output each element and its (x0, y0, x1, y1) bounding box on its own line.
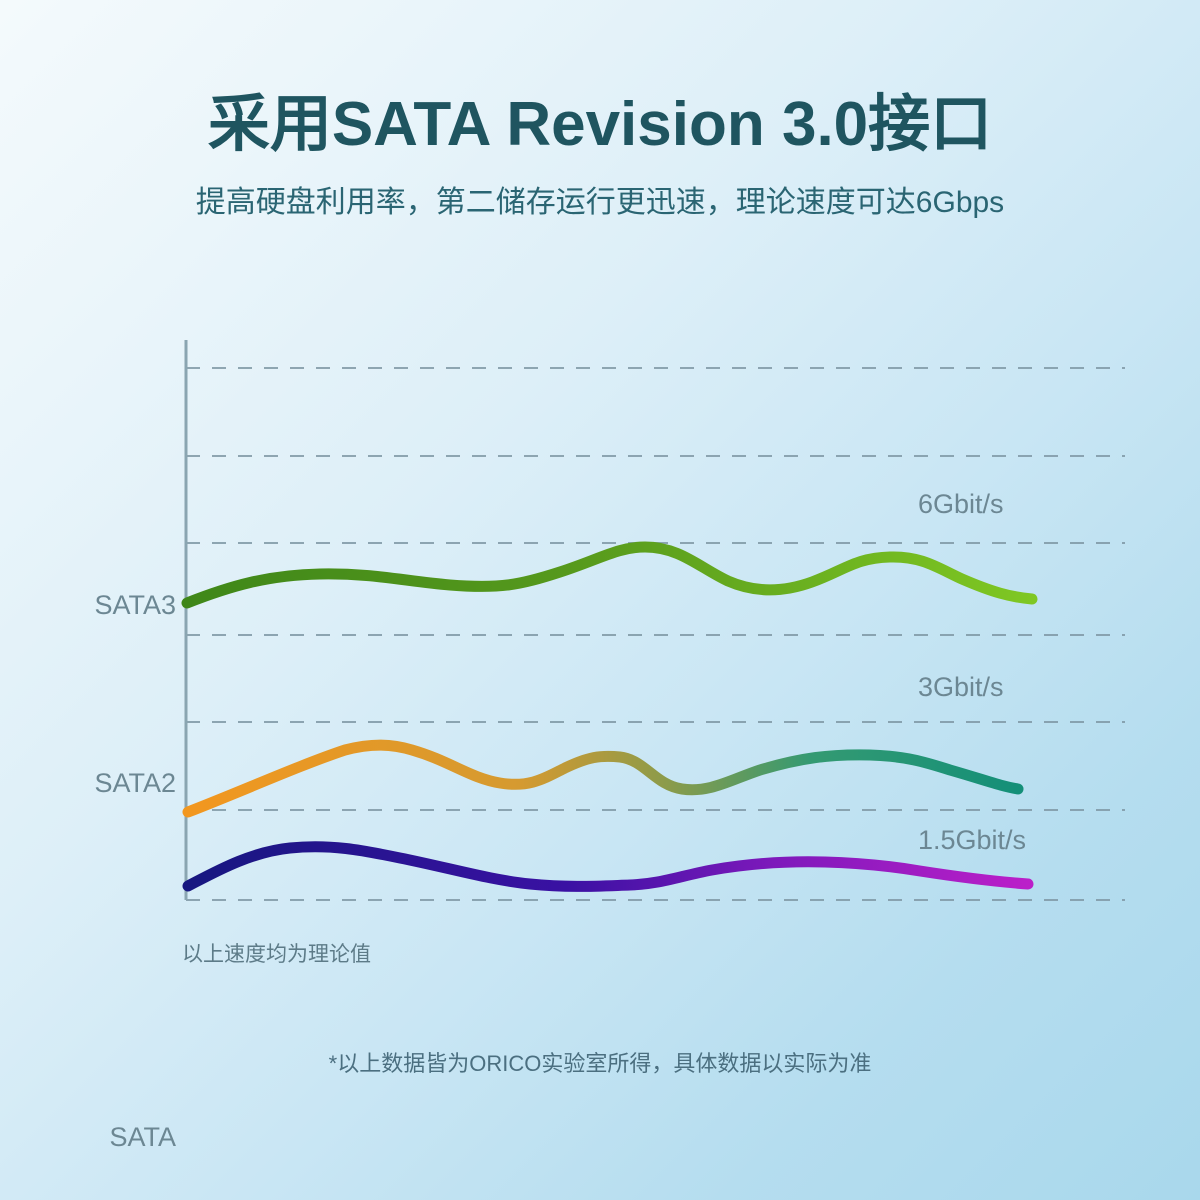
product-infographic-page: 采用SATA Revision 3.0接口 提高硬盘利用率，第二储存运行更迅速，… (0, 0, 1200, 1200)
speed-label-1-5gbit: 1.5Gbit/s (918, 825, 1026, 856)
footnote-disclaimer: *以上数据皆为ORICO实验室所得，具体数据以实际为准 (0, 1046, 1200, 1078)
chart-gridlines (186, 368, 1125, 900)
series-line-sata3 (187, 547, 1032, 603)
series-label-sata2: SATA2 (56, 768, 176, 799)
chart-canvas (0, 300, 1200, 980)
page-title: 采用SATA Revision 3.0接口 (0, 0, 1200, 159)
speed-label-3gbit: 3Gbit/s (918, 672, 1004, 703)
speed-label-6gbit: 6Gbit/s (918, 489, 1004, 520)
series-label-sata3: SATA3 (56, 590, 176, 621)
page-subtitle: 提高硬盘利用率，第二储存运行更迅速，理论速度可达6Gbps (0, 159, 1200, 221)
series-line-sata (188, 847, 1028, 887)
chart-note: 以上速度均为理论值 (182, 938, 371, 968)
series-label-sata: SATA (56, 1122, 176, 1153)
series-line-sata2 (188, 745, 1018, 812)
speed-comparison-chart: SATA3 SATA2 SATA (0, 300, 1200, 980)
header: 采用SATA Revision 3.0接口 提高硬盘利用率，第二储存运行更迅速，… (0, 0, 1200, 221)
